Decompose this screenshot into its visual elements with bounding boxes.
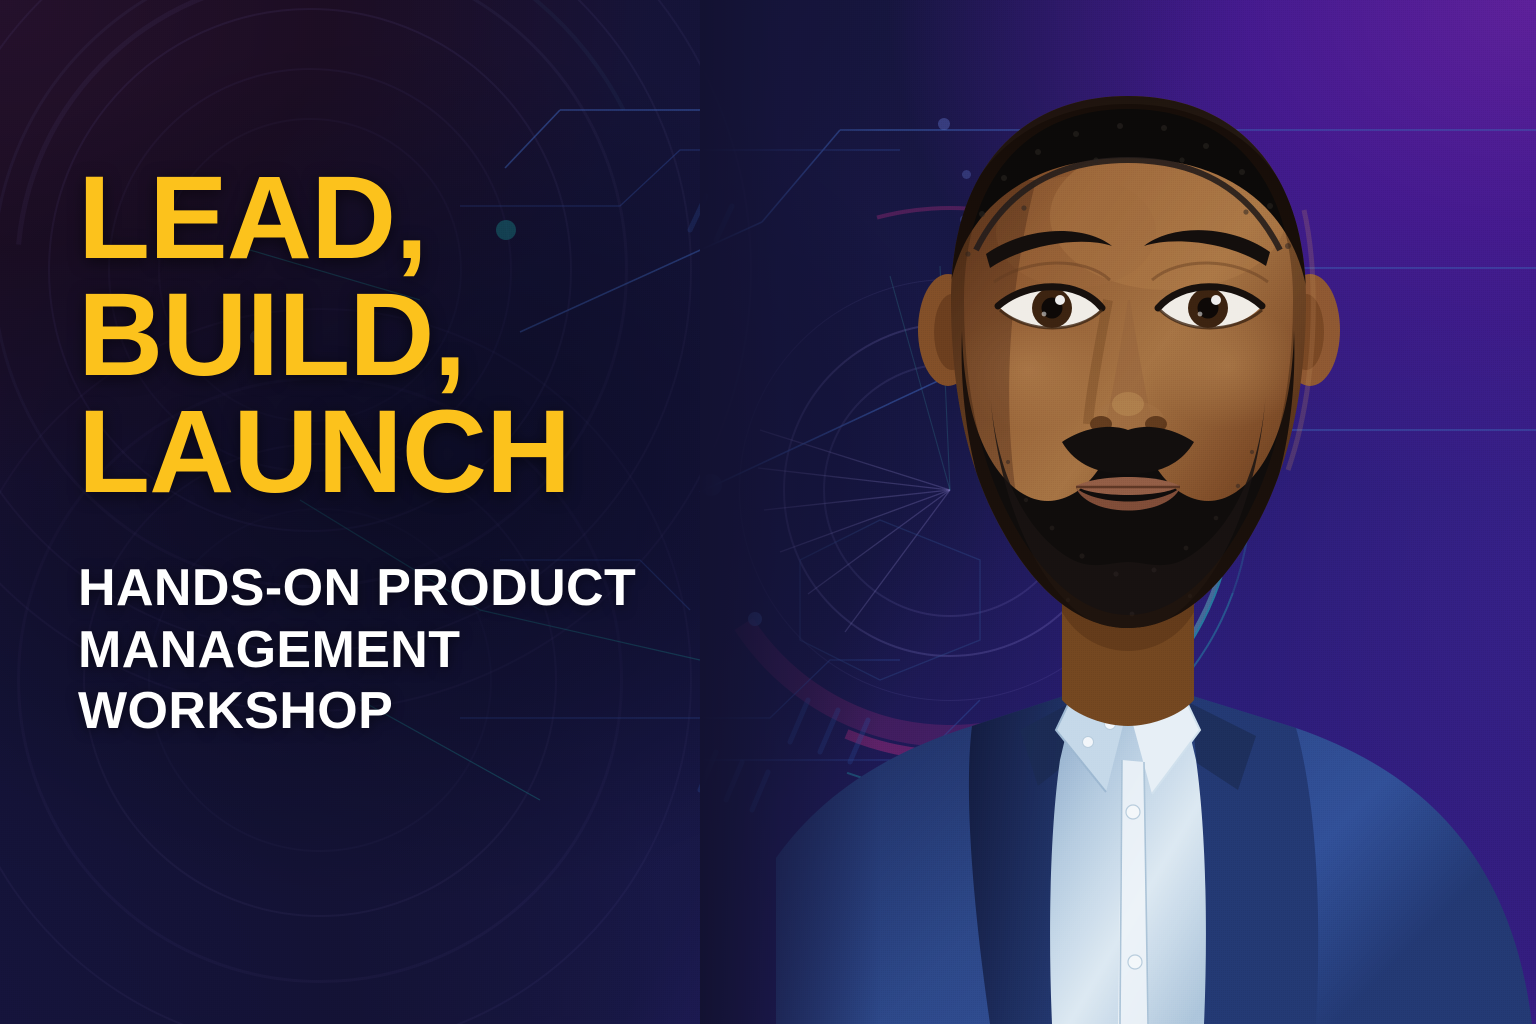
headline-line-3: LAUNCH (78, 394, 778, 511)
page-subtitle: HANDS-ON PRODUCT MANAGEMENT WORKSHOP (78, 558, 778, 742)
subtitle-line-1: HANDS-ON PRODUCT (78, 558, 778, 619)
headline-line-1: LEAD, (78, 160, 778, 277)
page-title: LEAD, BUILD, LAUNCH (78, 160, 778, 510)
subtitle-line-3: WORKSHOP (78, 681, 778, 742)
promo-banner: LEAD, BUILD, LAUNCH HANDS-ON PRODUCT MAN… (0, 0, 1536, 1024)
banner-text-block: LEAD, BUILD, LAUNCH HANDS-ON PRODUCT MAN… (78, 160, 778, 743)
subtitle-line-2: MANAGEMENT (78, 620, 778, 681)
headline-line-2: BUILD, (78, 277, 778, 394)
